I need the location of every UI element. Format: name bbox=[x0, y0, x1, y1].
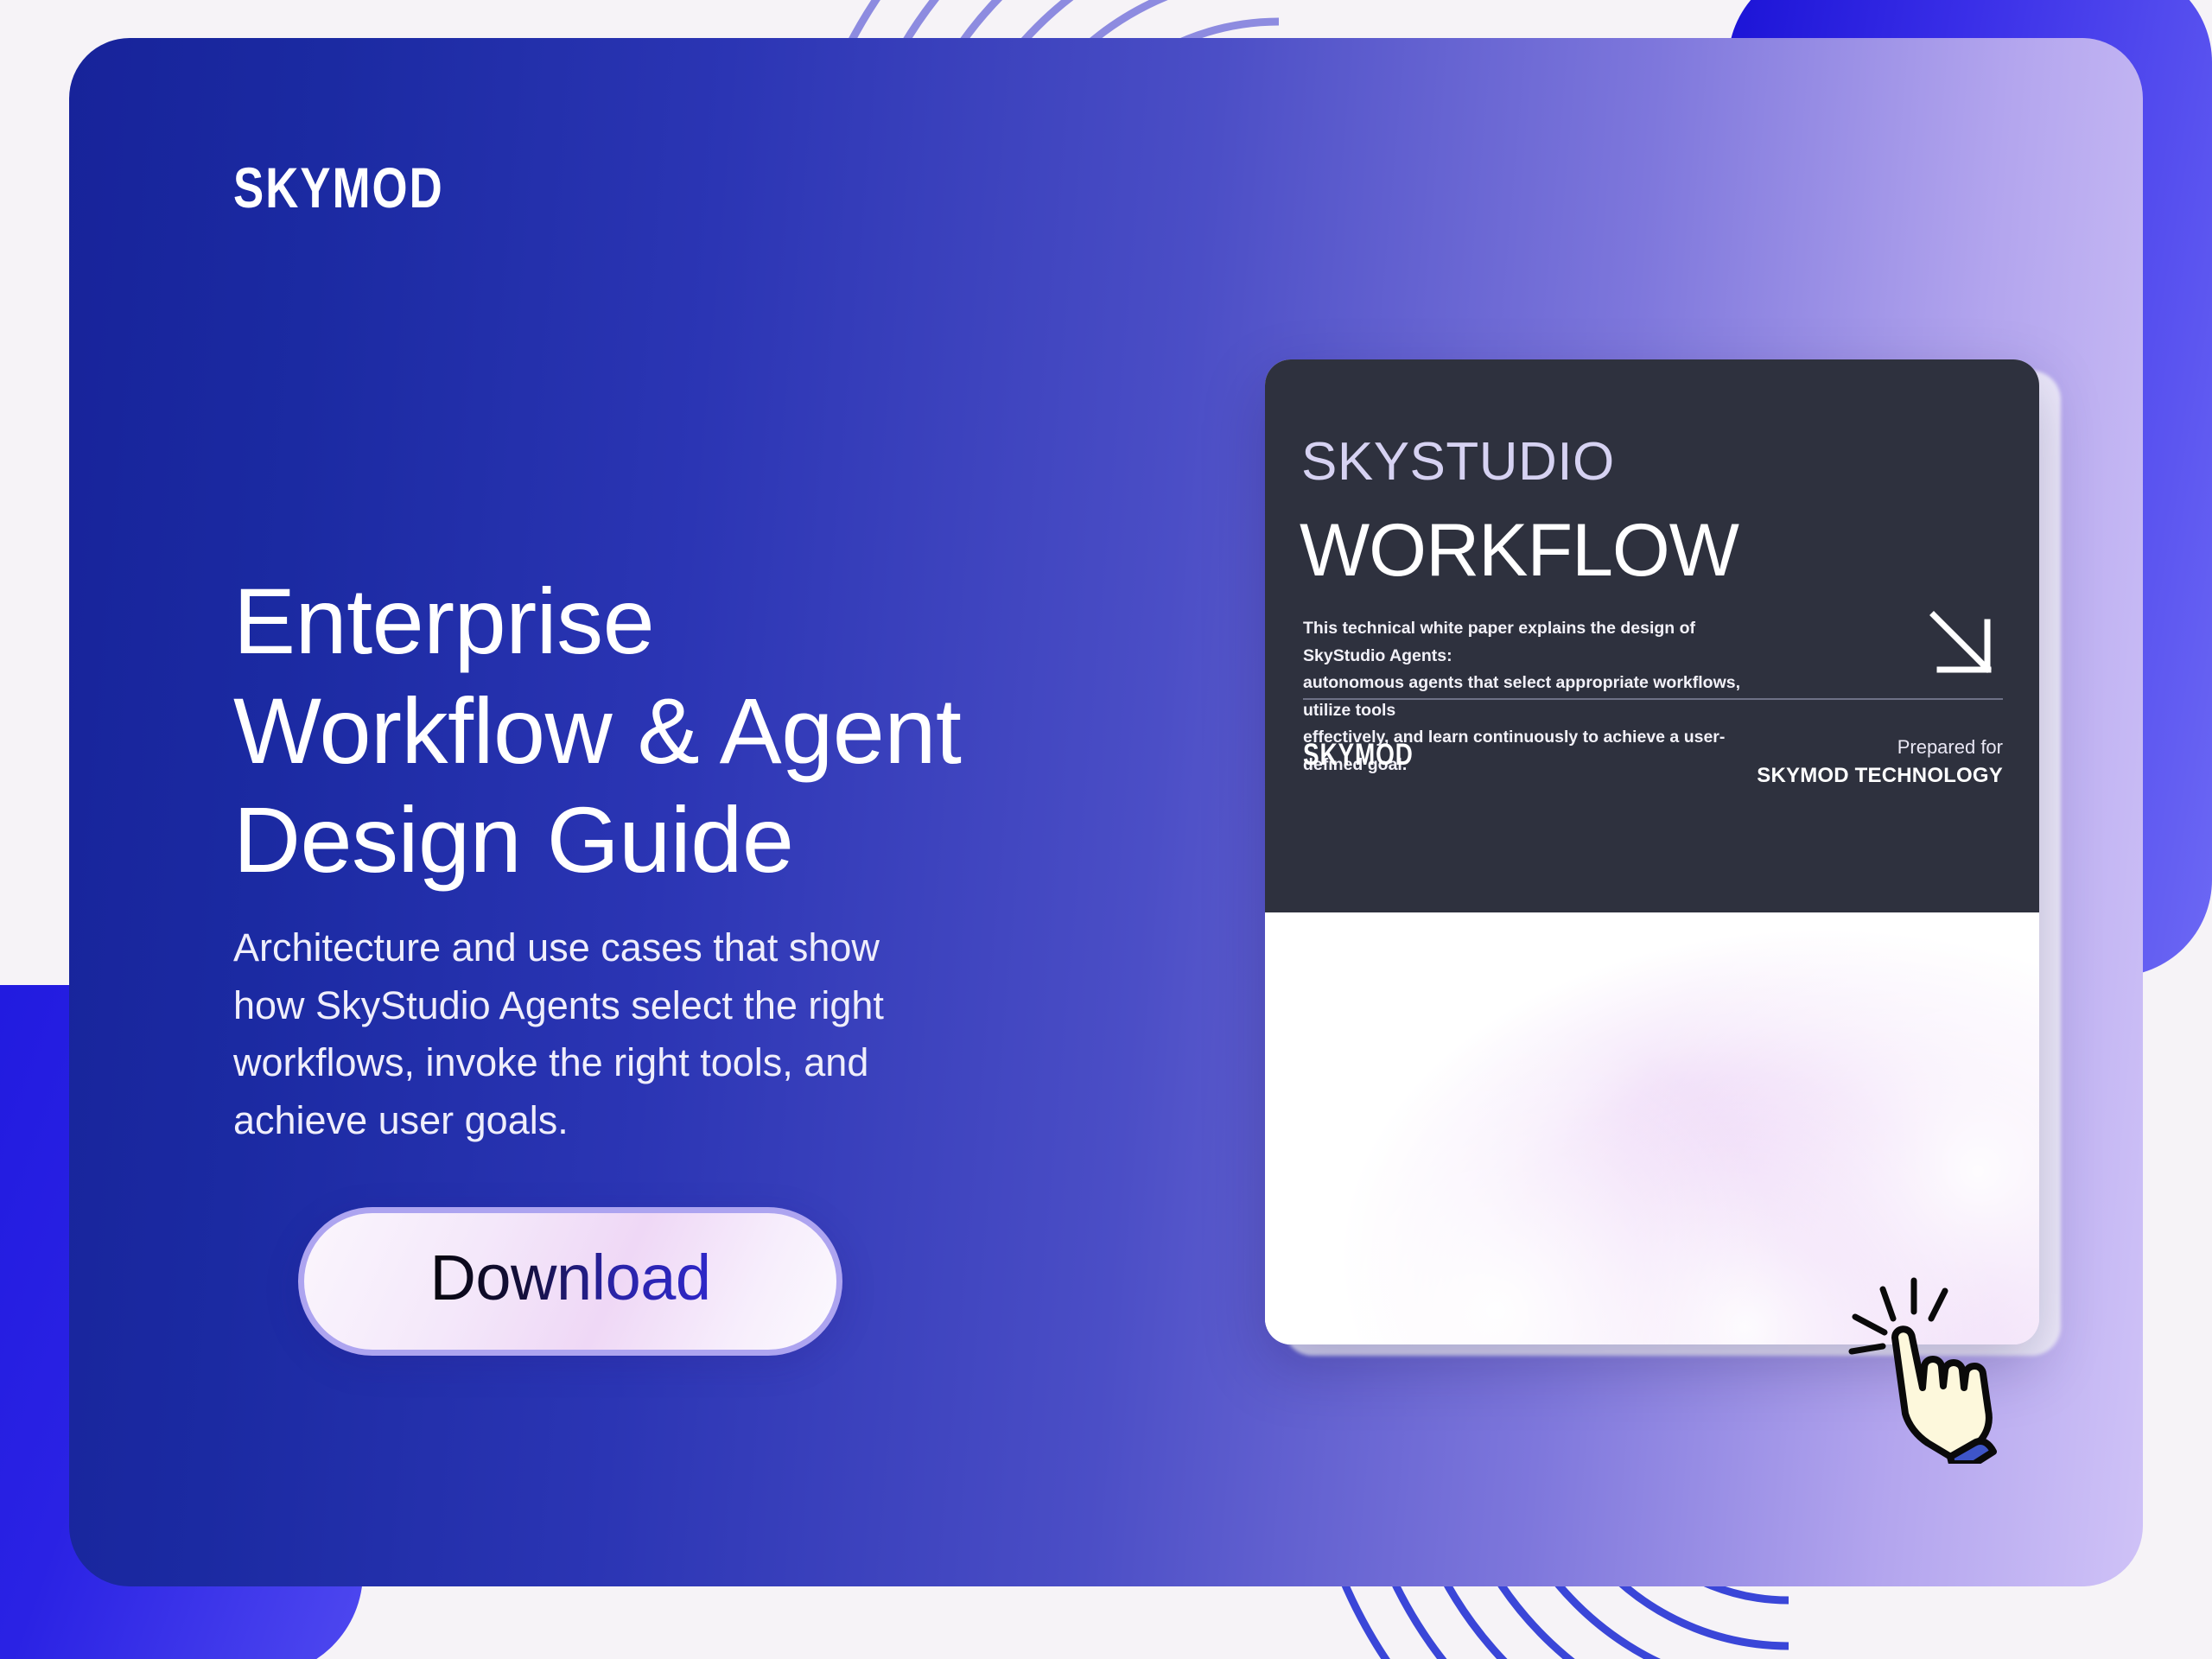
grain-texture bbox=[1265, 912, 1524, 1042]
document-title: WORKFLOW bbox=[1300, 513, 1738, 588]
document-prepared-value: SKYMOD TECHNOLOGY bbox=[1757, 761, 2003, 791]
arrow-down-right-icon bbox=[1927, 608, 1999, 681]
download-button[interactable]: Download bbox=[298, 1207, 842, 1356]
document-header: SKYSTUDIO WORKFLOW This technical white … bbox=[1265, 359, 2039, 912]
document-eyebrow: SKYSTUDIO bbox=[1301, 435, 1615, 489]
hero-description: Architecture and use cases that show how… bbox=[233, 919, 1063, 1149]
document-prepared-label: Prepared for bbox=[1757, 733, 2003, 761]
document-prepared-block: Prepared for SKYMOD TECHNOLOGY bbox=[1757, 733, 2003, 791]
poster-canvas: SKYMOD Enterprise Workflow & Agent Desig… bbox=[0, 0, 2212, 1659]
page-title: Enterprise Workflow & Agent Design Guide bbox=[233, 567, 1253, 894]
hero-card: SKYMOD Enterprise Workflow & Agent Desig… bbox=[69, 38, 2143, 1586]
document-footer-logo: SKYMOD bbox=[1303, 740, 1414, 770]
download-button-label: Download bbox=[429, 1246, 710, 1317]
brand-logo: SKYMOD bbox=[233, 159, 444, 216]
document-preview-card[interactable]: SKYSTUDIO WORKFLOW This technical white … bbox=[1265, 359, 2039, 1344]
document-cover-artwork bbox=[1265, 912, 2039, 1344]
document-divider bbox=[1303, 698, 2003, 700]
